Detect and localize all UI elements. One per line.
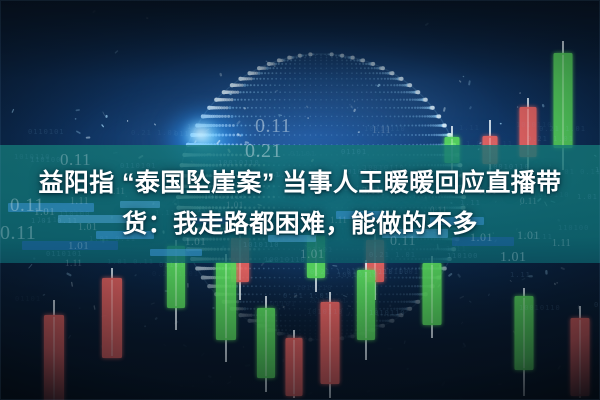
news-thumbnail-image: 0.110.110.111.011.011.111.010.110.110.21…	[0, 0, 600, 400]
image-border	[0, 0, 600, 400]
